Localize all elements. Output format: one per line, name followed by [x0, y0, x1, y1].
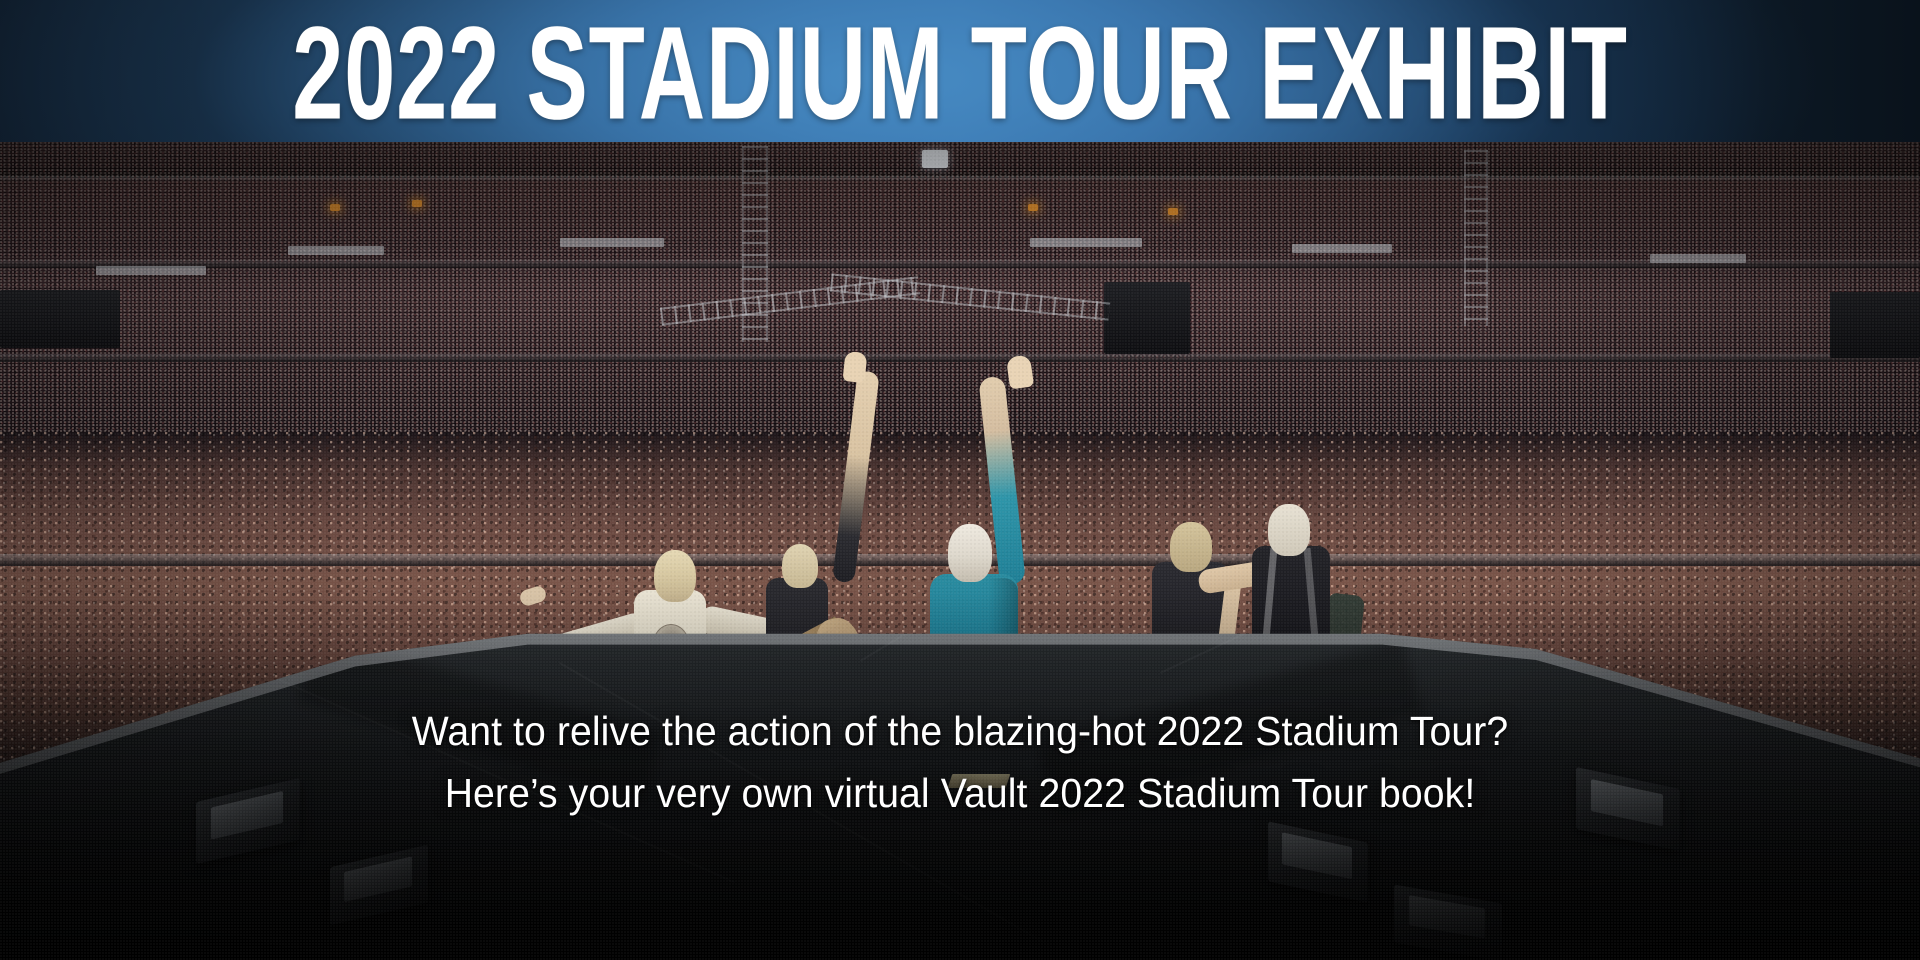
stage-spotlight-fixture — [922, 150, 948, 168]
stands-signage-5 — [1292, 244, 1392, 253]
stands-signage-1 — [96, 266, 206, 275]
exhibit-banner-page: 2022 STADIUM TOUR EXHIBIT — [0, 0, 1920, 960]
stands-amber-light-3 — [1028, 204, 1038, 211]
stands-signage-3 — [560, 238, 664, 247]
hero-concert-photo — [0, 142, 1920, 960]
pa-stack-left — [0, 290, 120, 348]
wedge-grille-left-2 — [344, 856, 413, 902]
wedge-grille-right-3 — [1409, 895, 1485, 939]
page-title: 2022 STADIUM TOUR EXHIBIT — [211, 0, 1709, 142]
stands-signage-2 — [288, 246, 384, 255]
pa-stack-center — [1104, 282, 1190, 354]
stands-amber-light-1 — [330, 204, 340, 211]
member2-raised-hand — [842, 351, 867, 383]
wedge-grille-right-1 — [1282, 833, 1352, 879]
stands-tier-divider-upper — [0, 260, 1920, 268]
member2-head — [782, 544, 818, 588]
member1-head — [654, 550, 696, 602]
caption-line-2: Here’s your very own virtual Vault 2022 … — [43, 762, 1877, 824]
pa-stack-right — [1830, 292, 1920, 358]
stands-tier-divider-lower — [0, 354, 1920, 362]
member4-head — [1170, 522, 1212, 572]
stands-amber-light-2 — [412, 200, 422, 207]
page-header-banner: 2022 STADIUM TOUR EXHIBIT — [0, 0, 1920, 142]
stands-signage-6 — [1650, 254, 1746, 263]
truss-tower-right — [1464, 150, 1488, 326]
caption-line-1: Want to relive the action of the blazing… — [43, 700, 1877, 762]
member3-head — [948, 524, 992, 582]
stands-signage-4 — [1030, 238, 1142, 247]
stands-amber-light-4 — [1168, 208, 1178, 215]
member5-head — [1268, 504, 1310, 556]
hero-caption: Want to relive the action of the blazing… — [43, 700, 1877, 824]
